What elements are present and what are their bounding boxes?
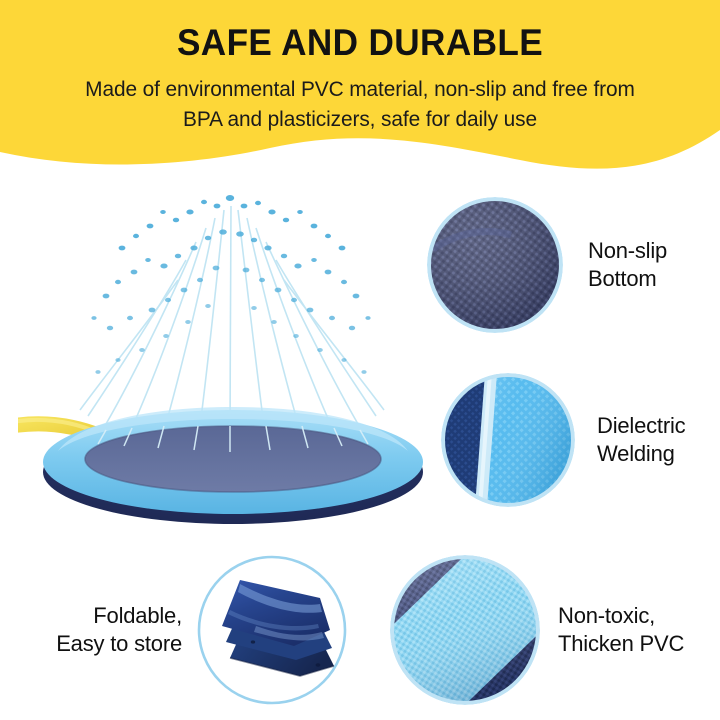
foldable-mat-swatch-icon bbox=[196, 554, 348, 706]
label-line-1: Non-slip bbox=[588, 237, 667, 265]
sprinkler-pad-illustration bbox=[18, 176, 448, 536]
subtitle-line-2: BPA and plasticizers, safe for daily use bbox=[183, 107, 537, 131]
label-line-2: Bottom bbox=[588, 265, 667, 293]
feature-callout-non-toxic-thicken-pvc[interactable]: Non-toxic, Thicken PVC bbox=[390, 552, 716, 708]
label-line-2: Easy to store bbox=[20, 630, 182, 658]
non-slip-bottom-swatch-icon bbox=[427, 197, 563, 333]
non-toxic-pvc-swatch-icon bbox=[390, 555, 540, 705]
page-subtitle: Made of environmental PVC material, non-… bbox=[11, 63, 709, 135]
feature-callout-non-slip-bottom[interactable]: Non-slip Bottom bbox=[427, 195, 717, 335]
label-line-2: Welding bbox=[597, 440, 685, 468]
feature-label-non-slip-bottom: Non-slip Bottom bbox=[588, 237, 667, 293]
label-line-1: Dielectric bbox=[597, 412, 685, 440]
label-line-1: Non-toxic, bbox=[558, 602, 684, 630]
header-banner: SAFE AND DURABLE Made of environmental P… bbox=[0, 0, 720, 180]
label-line-1: Foldable, bbox=[20, 602, 182, 630]
feature-label-dielectric-welding: Dielectric Welding bbox=[597, 412, 685, 468]
page-title: SAFE AND DURABLE bbox=[18, 0, 702, 63]
product-hero-image bbox=[18, 176, 448, 536]
subtitle-line-1: Made of environmental PVC material, non-… bbox=[85, 77, 635, 101]
feature-callout-foldable[interactable]: Foldable, Easy to store bbox=[20, 552, 350, 708]
dielectric-welding-swatch-icon bbox=[441, 373, 575, 507]
feature-callout-dielectric-welding[interactable]: Dielectric Welding bbox=[441, 370, 720, 510]
header-text-block: SAFE AND DURABLE Made of environmental P… bbox=[0, 0, 720, 150]
label-line-2: Thicken PVC bbox=[558, 630, 684, 658]
feature-label-non-toxic-thicken-pvc: Non-toxic, Thicken PVC bbox=[558, 602, 684, 658]
feature-label-foldable: Foldable, Easy to store bbox=[20, 602, 182, 658]
